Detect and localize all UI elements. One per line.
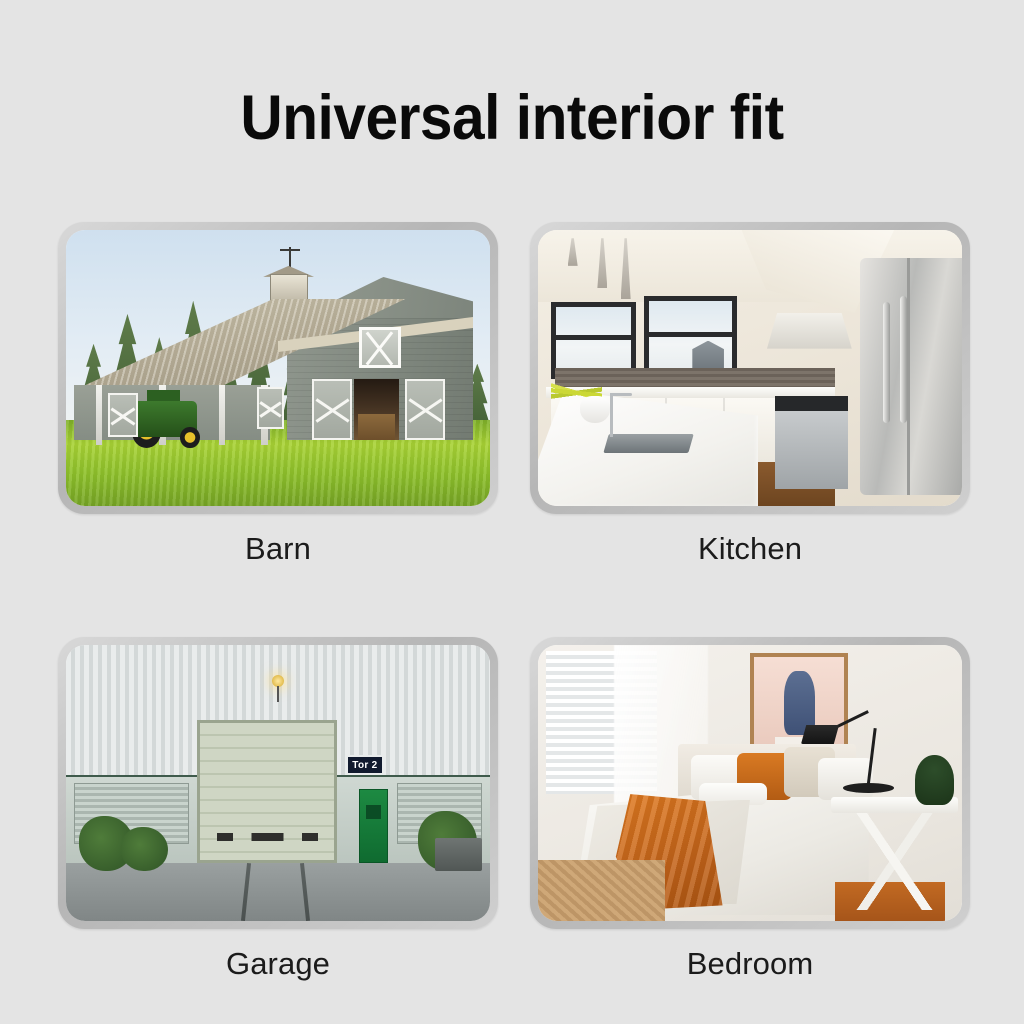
faucet bbox=[610, 393, 613, 437]
overhead-roll-up-door[interactable] bbox=[197, 720, 337, 864]
fridge-handle-left bbox=[883, 302, 890, 423]
kitchen-window-right bbox=[644, 296, 737, 379]
pillow-white-2 bbox=[818, 758, 873, 799]
weathervane-icon bbox=[289, 247, 291, 269]
poster-canvas: Universal interior fit bbox=[0, 0, 1024, 1024]
lean-to-panel-right bbox=[257, 387, 285, 428]
lean-to-panel-left bbox=[108, 393, 138, 437]
gallery-item-kitchen[interactable]: Kitchen bbox=[530, 222, 970, 567]
barn-loft-door bbox=[359, 327, 401, 368]
gallery-item-garage[interactable]: Tor 2 Garage bbox=[58, 637, 498, 982]
waste-container bbox=[435, 838, 482, 871]
side-table-legs bbox=[852, 811, 937, 910]
image-gallery-grid: Barn bbox=[58, 222, 970, 982]
barn-sliding-door-right bbox=[405, 379, 445, 440]
fridge-handle-right bbox=[900, 296, 907, 423]
gallery-item-barn[interactable]: Barn bbox=[58, 222, 498, 567]
potted-plant bbox=[915, 755, 953, 805]
decor-vase bbox=[580, 396, 610, 424]
image-card-bedroom[interactable] bbox=[530, 637, 970, 929]
photo-garage: Tor 2 bbox=[66, 645, 490, 921]
concrete-apron bbox=[66, 863, 490, 921]
bay-number-sign: Tor 2 bbox=[346, 755, 384, 774]
gallery-item-bedroom[interactable]: Bedroom bbox=[530, 637, 970, 982]
refrigerator bbox=[860, 258, 962, 495]
image-card-kitchen[interactable] bbox=[530, 222, 970, 514]
lamp-base bbox=[843, 783, 894, 793]
range-hood bbox=[767, 313, 852, 349]
barn-open-bay bbox=[354, 379, 399, 440]
photo-bedroom bbox=[538, 645, 962, 921]
caption-bedroom: Bedroom bbox=[530, 946, 970, 982]
personnel-door[interactable] bbox=[359, 789, 389, 864]
gas-range bbox=[775, 396, 847, 490]
caption-barn: Barn bbox=[58, 531, 498, 567]
wall-lamp-icon bbox=[272, 675, 284, 687]
caption-kitchen: Kitchen bbox=[530, 531, 970, 567]
image-card-barn[interactable] bbox=[58, 222, 498, 514]
photo-barn bbox=[66, 230, 490, 506]
shrub-left-2 bbox=[121, 827, 168, 871]
caption-garage: Garage bbox=[58, 946, 498, 982]
tractor-wheel-front bbox=[180, 427, 199, 448]
bay-number-label: Tor 2 bbox=[352, 760, 377, 771]
island-sink bbox=[603, 434, 693, 453]
jute-rug bbox=[538, 860, 665, 921]
photo-kitchen bbox=[538, 230, 962, 506]
barn-sliding-door-left bbox=[312, 379, 352, 440]
image-card-garage[interactable]: Tor 2 bbox=[58, 637, 498, 929]
lamp-shade-icon bbox=[801, 725, 839, 744]
page-title: Universal interior fit bbox=[36, 82, 988, 154]
